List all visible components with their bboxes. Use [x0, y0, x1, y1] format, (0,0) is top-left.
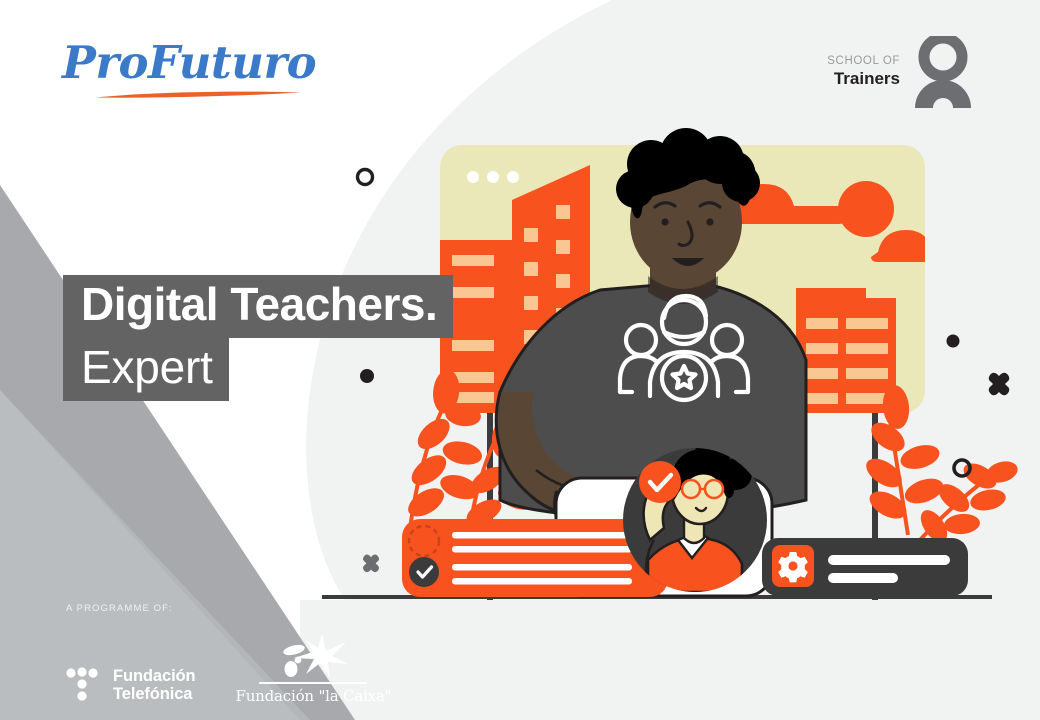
telefonica-name-line2: Telefónica: [113, 685, 192, 703]
profuturo-logo[interactable]: ProFuturo: [62, 38, 332, 108]
la-caixa-star-icon: [276, 632, 350, 680]
school-label: Trainers: [827, 69, 900, 89]
page-title: Digital Teachers. Expert: [63, 275, 453, 401]
partner-logos: Fundación Telefónica Fundación "la Caixa…: [66, 632, 391, 705]
poster-canvas: ProFuturo SCHOOL OF Trainers Digital Tea…: [0, 0, 1040, 720]
fundacion-la-caixa-logo[interactable]: Fundación "la Caixa": [236, 632, 392, 705]
title-line-2-row: Expert: [63, 338, 453, 401]
la-caixa-rule: [259, 682, 367, 684]
school-superlabel: SCHOOL OF: [827, 55, 900, 68]
fundacion-telefonica-logo[interactable]: Fundación Telefónica: [66, 667, 196, 705]
programme-label: A PROGRAMME OF:: [66, 603, 391, 614]
footer: A PROGRAMME OF: Fundación Telefónica: [66, 603, 391, 705]
profuturo-underline-icon: [94, 90, 302, 99]
title-line-1-row: Digital Teachers.: [63, 275, 453, 338]
title-line-2: Expert: [63, 338, 229, 401]
telefonica-dots-icon: [66, 667, 102, 705]
school-of-trainers-badge: SCHOOL OF Trainers: [827, 36, 974, 108]
title-line-1: Digital Teachers.: [63, 275, 453, 338]
profuturo-wordmark: ProFuturo: [62, 38, 332, 88]
telefonica-name: Fundación Telefónica: [113, 668, 196, 703]
la-caixa-name: Fundación "la Caixa": [236, 687, 392, 705]
person-silhouette-icon: [912, 36, 974, 108]
telefonica-name-line1: Fundación: [113, 667, 196, 685]
